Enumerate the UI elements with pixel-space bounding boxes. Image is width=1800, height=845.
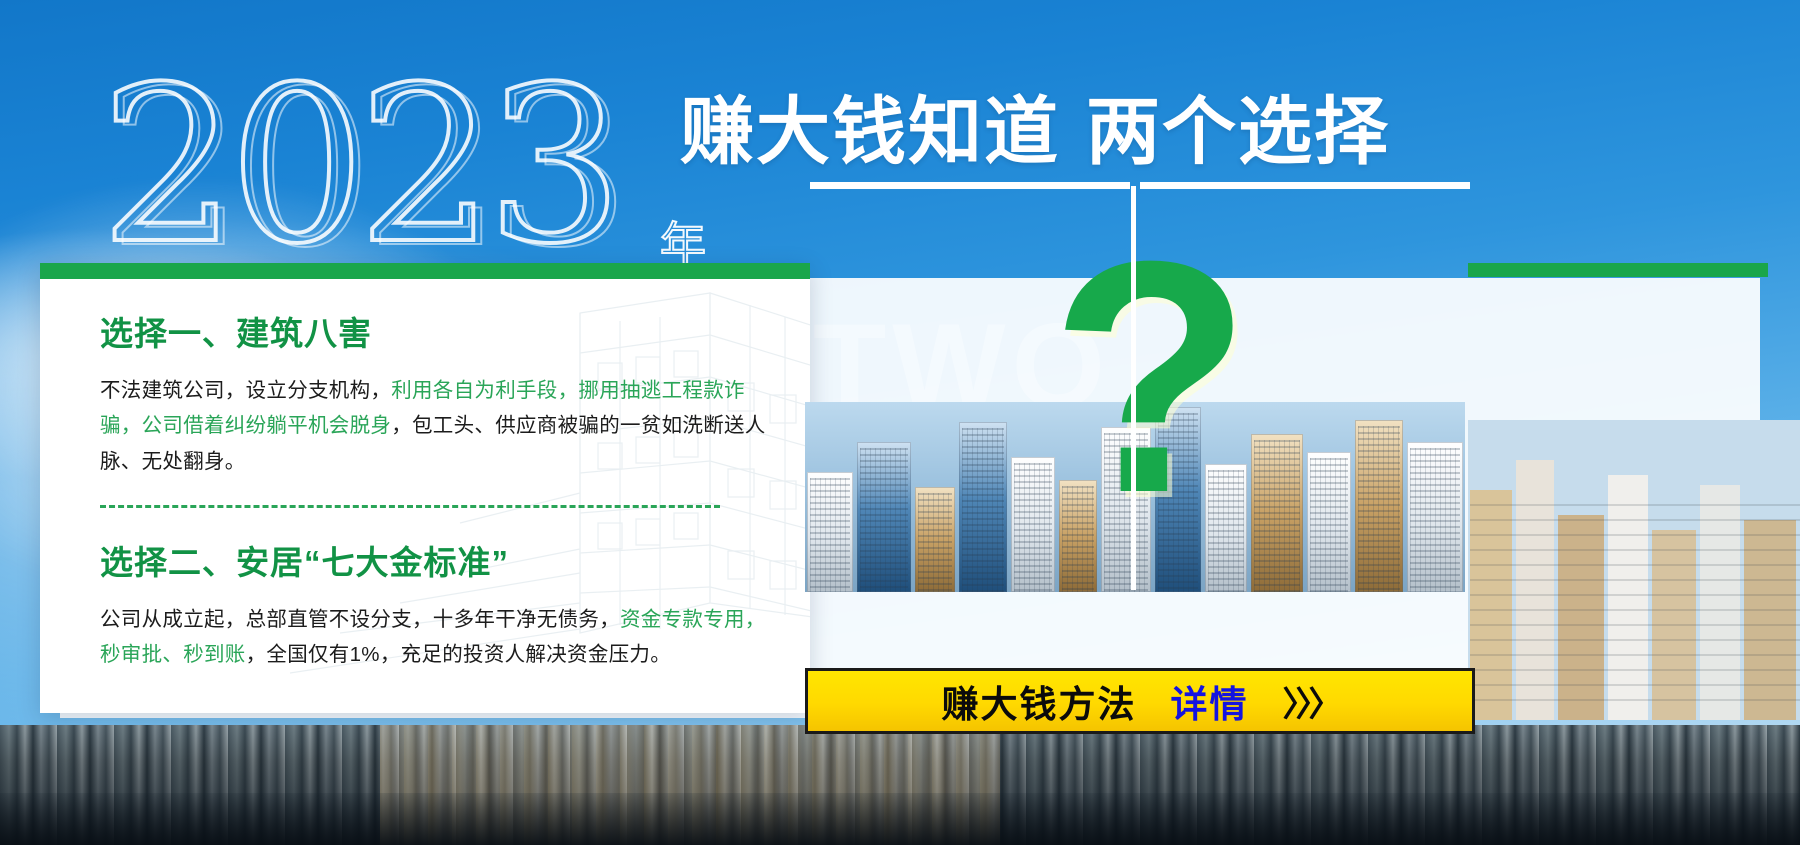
building <box>1251 434 1303 592</box>
building <box>959 422 1007 592</box>
question-mark-icon: ? <box>1050 212 1252 542</box>
panel-vertical-divider <box>1131 186 1136 590</box>
right-city-svg <box>1468 420 1800 720</box>
section-two: 选择二、安居“七大金标准” 公司从成立起，总部直管不设分支，十多年干净无债务，资… <box>100 536 776 673</box>
section-one-title: 选择一、建筑八害 <box>100 307 776 355</box>
card-body: 选择一、建筑八害 不法建筑公司，设立分支机构，利用各自为利手段，挪用抽逃工程款诈… <box>40 263 810 672</box>
headline-part-right: 两个选择 <box>1086 90 1390 173</box>
cta-main-label: 赚大钱方法 <box>942 674 1137 728</box>
building <box>857 442 911 592</box>
section-one: 选择一、建筑八害 不法建筑公司，设立分支机构，利用各自为利手段，挪用抽逃工程款诈… <box>100 307 776 479</box>
year-outline-shadow: 2023 <box>108 62 623 277</box>
section-one-body-part-1: 不法建筑公司，设立分支机构， <box>100 379 391 402</box>
right-city-photo <box>1468 420 1800 720</box>
section-one-body: 不法建筑公司，设立分支机构，利用各自为利手段，挪用抽逃工程款诈骗，公司借着纠纷躺… <box>100 373 776 479</box>
section-two-title: 选择二、安居“七大金标准” <box>100 536 776 584</box>
year-graphic: 2023 2023 年 <box>100 58 720 288</box>
building <box>1355 420 1403 592</box>
cta-detail-label: 详情 <box>1171 674 1249 728</box>
section-two-body-part-1: 公司从成立起，总部直管不设分支，十多年干净无债务， <box>100 608 620 631</box>
building <box>1407 442 1463 592</box>
headline-part-left: 赚大钱知道 <box>680 90 1060 173</box>
page-title: 赚大钱知道两个选择 <box>680 72 1390 179</box>
bottom-strip-warm-overlay <box>380 725 1000 845</box>
section-divider <box>100 505 720 508</box>
green-accent-bar-right <box>1468 263 1768 277</box>
cta-button[interactable]: 赚大钱方法 详情 〉〉〉 <box>805 668 1475 734</box>
building <box>1307 452 1351 592</box>
poster-root: 2023 2023 年 赚大钱知道两个选择 TWO CHOICES ? <box>0 0 1800 845</box>
chevron-right-icon: 〉〉〉 <box>1283 677 1339 726</box>
building <box>1011 457 1055 592</box>
section-two-body: 公司从成立起，总部直管不设分支，十多年干净无债务，资金专款专用，秒审批、秒到账，… <box>100 602 776 673</box>
section-two-body-part-3: ，全国仅有1%，充足的投资人解决资金压力。 <box>246 643 671 666</box>
building <box>915 487 955 592</box>
bottom-photo-strip <box>0 725 1800 845</box>
content-card: 选择一、建筑八害 不法建筑公司，设立分支机构，利用各自为利手段，挪用抽逃工程款诈… <box>40 263 810 713</box>
building <box>807 472 853 592</box>
